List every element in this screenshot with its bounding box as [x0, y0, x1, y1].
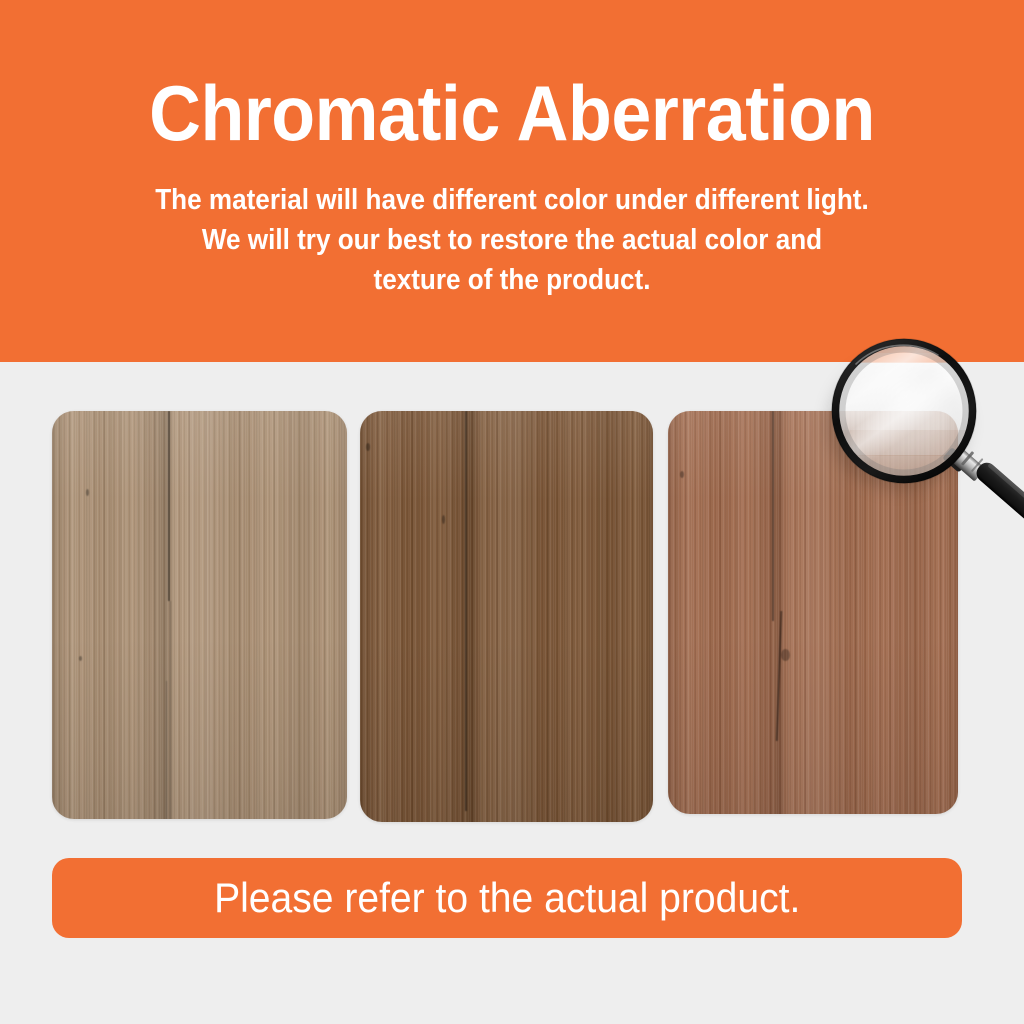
wood-knot: [79, 656, 82, 661]
wood-knot: [781, 649, 790, 661]
dark-walnut-swatch[interactable]: [360, 411, 653, 822]
cinnamon-oak-swatch[interactable]: [668, 411, 958, 814]
wood-knot: [366, 443, 370, 451]
light-oak-swatch[interactable]: [52, 411, 347, 819]
wood-crack: [772, 411, 774, 621]
wood-knot: [680, 471, 684, 478]
wood-shading: [360, 411, 653, 822]
wood-shading: [668, 411, 958, 814]
wood-crack: [168, 411, 170, 601]
wood-crack: [166, 681, 167, 819]
wood-crack: [170, 601, 171, 819]
wood-knot: [442, 515, 445, 524]
footer-callout-banner[interactable]: Please refer to the actual product.: [52, 858, 962, 938]
wood-crack: [465, 411, 467, 811]
wood-knot: [86, 489, 89, 496]
wood-shading: [52, 411, 347, 819]
chromatic-aberration-infographic: Chromatic Aberration The material will h…: [0, 0, 1024, 1024]
footer-callout-text: Please refer to the actual product.: [214, 874, 800, 922]
